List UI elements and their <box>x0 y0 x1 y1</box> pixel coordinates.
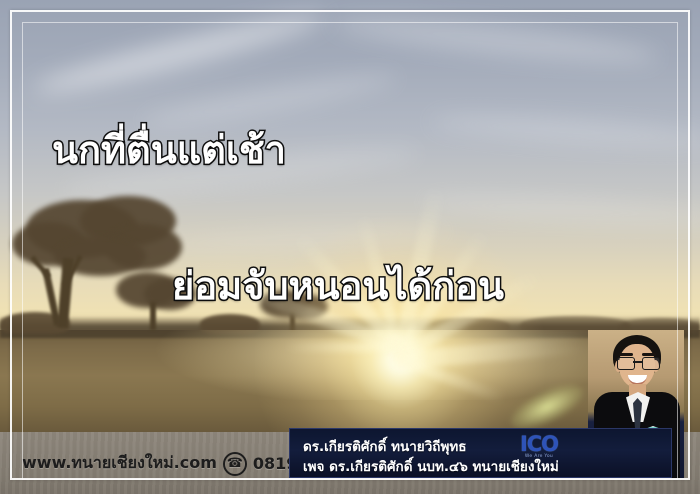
eyeglasses-icon <box>617 357 658 368</box>
credentials-banner: ดร.เกียรติศักดิ์ ทนายวิถีพุทธ เพจ ดร.เกี… <box>289 428 672 478</box>
cloud-streak <box>329 8 660 72</box>
ico-logo: ICO We Are You <box>508 430 570 464</box>
ico-logo-mark: ICO <box>520 434 558 454</box>
ico-logo-subtext: We Are You <box>525 454 553 460</box>
cloud-streak <box>430 110 700 151</box>
cloud-streak <box>420 192 700 228</box>
headline-line-2: ย่อมจับหนอนได้ก่อน <box>172 255 504 316</box>
poster-canvas: นกที่ตื่นแต่เช้า ย่อมจับหนอนได้ก่อน www.… <box>0 0 700 494</box>
website-text[interactable]: www.ทนายเชียงใหม่.com <box>22 451 217 476</box>
phone-icon: ☎ <box>223 452 247 476</box>
cloud-streak <box>150 222 451 256</box>
headline-line-1: นกที่ตื่นแต่เช้า <box>52 119 286 180</box>
banner-line-1: ดร.เกียรติศักดิ์ ทนายวิถีพุทธ <box>303 435 466 457</box>
